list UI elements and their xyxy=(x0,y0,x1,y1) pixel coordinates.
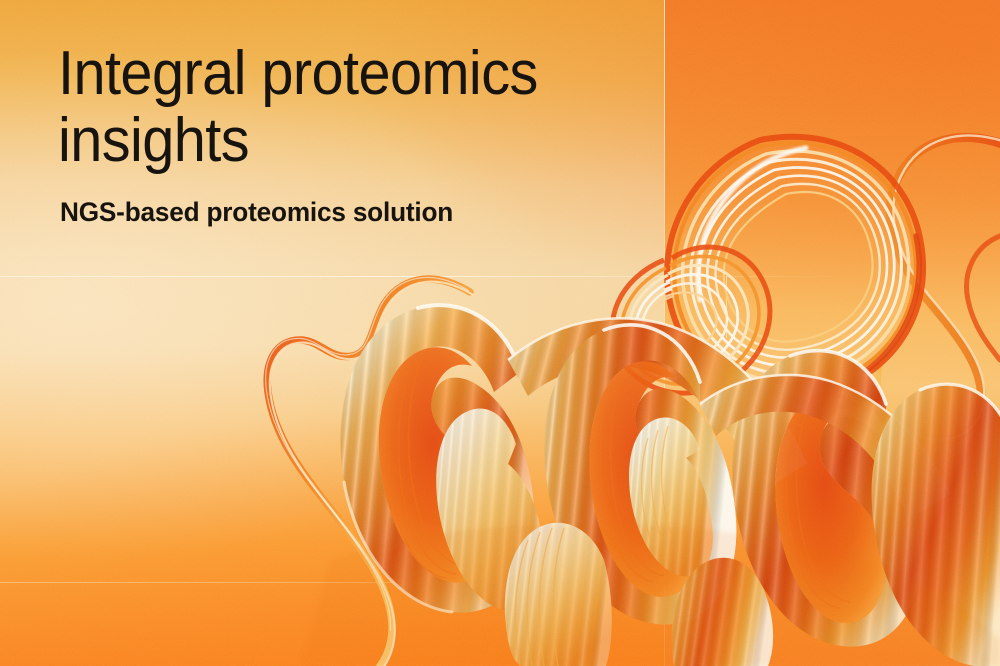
promotional-banner: Integral proteomics insights NGS-based p… xyxy=(0,0,1000,666)
headline-block: Integral proteomics insights NGS-based p… xyxy=(58,40,678,228)
page-title: Integral proteomics insights xyxy=(58,40,635,174)
page-subtitle: NGS-based proteomics solution xyxy=(60,196,659,228)
